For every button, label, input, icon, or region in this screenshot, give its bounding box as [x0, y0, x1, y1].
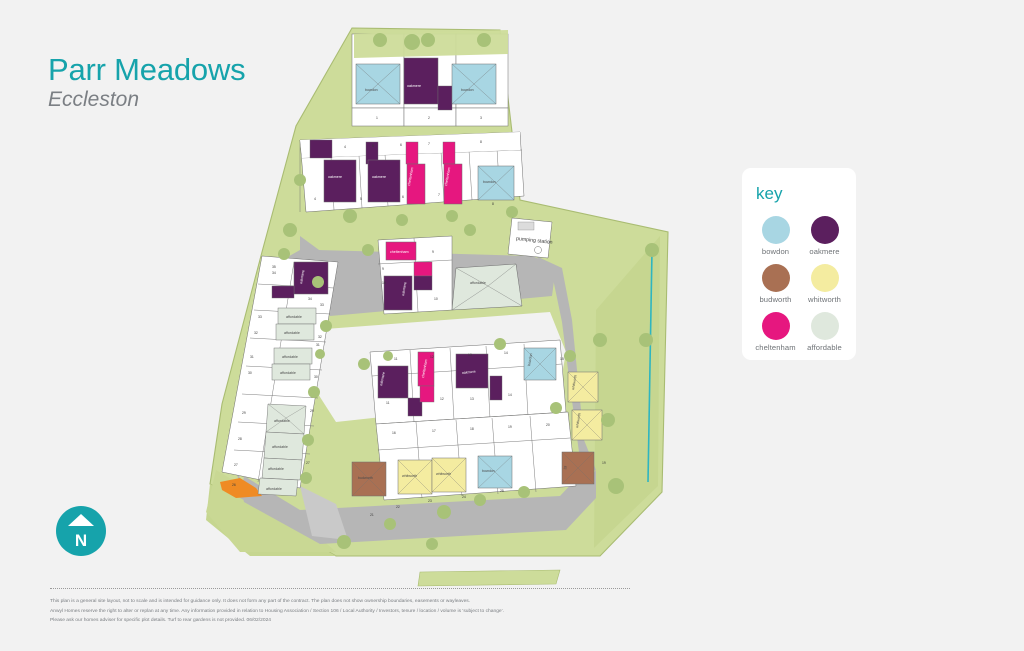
house-label-31: affordable	[282, 355, 298, 359]
tree-icon	[302, 434, 314, 446]
plot-number-2b: 2	[428, 116, 430, 120]
tree-icon	[384, 518, 396, 530]
plot-number-14b: 14	[508, 393, 512, 397]
plot-number-14: 14	[504, 351, 508, 355]
plot-number-19b: 19	[602, 461, 606, 465]
house-oakmere-5[interactable]	[368, 160, 400, 202]
tree-icon	[312, 276, 324, 288]
house-label-5: oakmere	[372, 175, 386, 179]
plot-number-17: 17	[432, 429, 436, 433]
plot-number-5: 5	[372, 144, 374, 148]
house-oakmere-10[interactable]	[384, 276, 412, 310]
plot-number-10b: 10	[382, 281, 386, 285]
key-item-oakmere[interactable]: oakmere	[800, 216, 849, 256]
tree-icon	[550, 402, 562, 414]
house-label-22: bowdon	[482, 469, 495, 473]
pumping-station[interactable]: pumping station	[508, 218, 553, 258]
plot-number-34: 34	[272, 271, 276, 275]
house-oakmere-10-wing[interactable]	[414, 276, 432, 290]
plot-number-35: 35	[272, 265, 276, 269]
tree-icon	[343, 209, 357, 223]
tree-icon	[300, 472, 312, 484]
tree-icon	[494, 338, 506, 350]
house-label-4: oakmere	[328, 175, 342, 179]
house-label-3: bowdon	[461, 88, 474, 92]
house-label-9: cheltenham	[390, 250, 409, 254]
tree-icon	[518, 486, 530, 498]
plot-number-6: 6	[400, 143, 402, 147]
house-cheltenham-6-wing[interactable]	[406, 142, 418, 164]
tree-icon	[320, 320, 332, 332]
house-label-21: whitworth	[436, 472, 451, 476]
plot-num-box-3[interactable]	[456, 108, 508, 126]
tree-icon	[383, 351, 393, 361]
plot-cluster-north[interactable]: bowdon oakmere bowdon 1 2 3 1 2 3	[352, 30, 508, 126]
key-label-cheltenham: cheltenham	[751, 343, 800, 352]
plot-number-30b: 30	[314, 375, 318, 379]
key-label-affordable: affordable	[800, 343, 849, 352]
house-oakmere-4[interactable]	[324, 160, 356, 202]
plot-number-30: 30	[248, 371, 252, 375]
plot-number-4: 4	[344, 145, 346, 149]
tree-icon	[639, 333, 653, 347]
plot-number-7: 7	[428, 142, 430, 146]
plot-number-33: 33	[258, 315, 262, 319]
plot-number-21: 21	[370, 513, 374, 517]
house-label-30: affordable	[280, 371, 296, 375]
plot-number-27b: 27	[306, 461, 310, 465]
key-label-oakmere: oakmere	[800, 247, 849, 256]
plot-number-7b: 7	[438, 193, 440, 197]
tree-icon	[601, 413, 615, 427]
house-label-32: affordable	[284, 331, 300, 335]
tree-icon	[421, 33, 435, 47]
key-swatch-bowdon	[762, 216, 790, 244]
house-label-2: oakmere	[407, 84, 421, 88]
plot-number-13b: 13	[470, 397, 474, 401]
plot-num-box-2[interactable]	[404, 108, 456, 126]
footer-line-3: Please ask our homes adviser for specifi…	[50, 616, 650, 626]
tree-icon	[315, 349, 325, 359]
house-oakmere-4-wing[interactable]	[310, 140, 332, 158]
tree-icon	[645, 243, 659, 257]
pumping-station-structure	[518, 222, 534, 230]
footer-line-1: This plan is a general site layout, not …	[50, 597, 650, 607]
plot-number-29b: 29	[310, 409, 314, 413]
tree-icon	[278, 248, 290, 260]
plot-number-32b: 32	[318, 335, 322, 339]
tree-icon	[437, 505, 451, 519]
plot-number-1b: 1	[376, 116, 378, 120]
key-grid: bowdon oakmere budworth whitworth chelte…	[751, 216, 849, 352]
key-swatch-budworth	[762, 264, 790, 292]
key-swatch-whitworth	[811, 264, 839, 292]
plot-number-8: 8	[480, 140, 482, 144]
plot-number-6b: 6	[402, 195, 404, 199]
footer-divider	[50, 588, 630, 589]
plot-number-31b: 31	[316, 343, 320, 347]
tree-icon	[362, 244, 374, 256]
tree-icon	[446, 210, 458, 222]
site-plan-page: Parr Meadows Eccleston	[0, 0, 1024, 651]
plot-number-33b: 33	[320, 303, 324, 307]
footer-line-2: Anwyl Homes reserve the right to alter o…	[50, 607, 650, 617]
plot-number-8b: 8	[492, 202, 494, 206]
house-label-18: budworth	[358, 476, 373, 480]
tree-icon	[283, 223, 297, 237]
plot-number-28: 28	[238, 437, 242, 441]
house-label-8: bowdon	[483, 180, 496, 184]
key-panel: key bowdon oakmere budworth whitworth ch…	[742, 168, 856, 360]
key-swatch-cheltenham	[762, 312, 790, 340]
plot-num-box-1[interactable]	[352, 108, 404, 126]
key-label-bowdon: bowdon	[751, 247, 800, 256]
plot-number-16: 16	[392, 431, 396, 435]
plot-number-11: 11	[394, 357, 398, 361]
house-oakmere-2-wing[interactable]	[438, 86, 452, 110]
plot-number-32: 32	[254, 331, 258, 335]
plot-number-9b: 9	[382, 267, 384, 271]
house-oakmere-2[interactable]	[404, 58, 438, 104]
tree-icon	[358, 358, 370, 370]
compass-rose[interactable]: N	[56, 506, 106, 556]
plot-number-29: 29	[242, 411, 246, 415]
key-item-budworth[interactable]: budworth	[751, 264, 800, 304]
tree-icon	[373, 33, 387, 47]
tree-icon	[426, 538, 438, 550]
tree-icon	[477, 33, 491, 47]
plot-number-12b: 12	[440, 397, 444, 401]
house-cheltenham-12-wing[interactable]	[420, 386, 434, 402]
tree-icon	[404, 34, 420, 50]
tree-icon	[337, 535, 351, 549]
plot-number-12: 12	[430, 355, 434, 359]
tree-icon	[608, 478, 624, 494]
key-item-cheltenham[interactable]: cheltenham	[751, 312, 800, 352]
plot-number-19: 19	[508, 425, 512, 429]
house-label-26: affordable	[266, 487, 282, 491]
key-item-whitworth[interactable]: whitworth	[800, 264, 849, 304]
plot-number-26: 26	[232, 483, 236, 487]
tree-icon	[474, 494, 486, 506]
plot-number-31: 31	[250, 355, 254, 359]
plot-number-23: 23	[428, 499, 432, 503]
key-label-budworth: budworth	[751, 295, 800, 304]
tree-icon	[308, 386, 320, 398]
tree-icon	[396, 214, 408, 226]
house-label-29: affordable	[274, 419, 290, 423]
plot-number-18: 18	[470, 427, 474, 431]
tree-icon	[464, 224, 476, 236]
tree-icon	[593, 333, 607, 347]
compass-label: N	[75, 531, 87, 550]
house-oakmere-13-wing[interactable]	[490, 376, 502, 400]
plot-number-20: 20	[546, 423, 550, 427]
plan-edge-fragment	[418, 570, 560, 586]
plot-number-34b: 34	[308, 297, 312, 301]
tree-icon	[506, 206, 518, 218]
key-swatch-oakmere	[811, 216, 839, 244]
key-swatch-affordable	[811, 312, 839, 340]
plot-number-5b: 5	[360, 197, 362, 201]
house-cheltenham-9-wing[interactable]	[414, 262, 432, 276]
affordable-block-central[interactable]: affordable	[452, 264, 522, 310]
plot-number-9: 9	[432, 250, 434, 254]
plot-number-15: 15	[560, 357, 564, 361]
plot-number-11b: 11	[386, 401, 390, 405]
house-cheltenham-7-wing[interactable]	[443, 142, 455, 164]
plot-number-24: 24	[462, 495, 466, 499]
house-label-1: bowdon	[365, 88, 378, 92]
plot-number-3b: 3	[480, 116, 482, 120]
house-label-27: affordable	[268, 467, 284, 471]
key-item-affordable[interactable]: affordable	[800, 312, 849, 352]
key-title: key	[756, 184, 782, 204]
plot-number-22: 22	[396, 505, 400, 509]
plot-number-10: 10	[434, 297, 438, 301]
key-label-whitworth: whitworth	[800, 295, 849, 304]
plot-number-13: 13	[468, 353, 472, 357]
house-label-28: affordable	[272, 445, 288, 449]
house-label-19: 19	[563, 466, 568, 471]
house-oakmere-34-wing[interactable]	[272, 286, 294, 298]
footer-disclaimer: This plan is a general site layout, not …	[50, 597, 650, 626]
house-label-20: whitworth	[402, 474, 417, 478]
plot-number-4b: 4	[314, 197, 316, 201]
house-label-33: affordable	[286, 315, 302, 319]
key-item-bowdon[interactable]: bowdon	[751, 216, 800, 256]
site-plan-map[interactable]: bowdon oakmere bowdon 1 2 3 1 2 3	[0, 0, 1024, 651]
affordable-block-label: affordable	[470, 281, 486, 285]
plot-number-27: 27	[234, 463, 238, 467]
tree-icon	[564, 350, 576, 362]
tree-icon	[294, 174, 306, 186]
plot-number-25: 25	[500, 489, 504, 493]
